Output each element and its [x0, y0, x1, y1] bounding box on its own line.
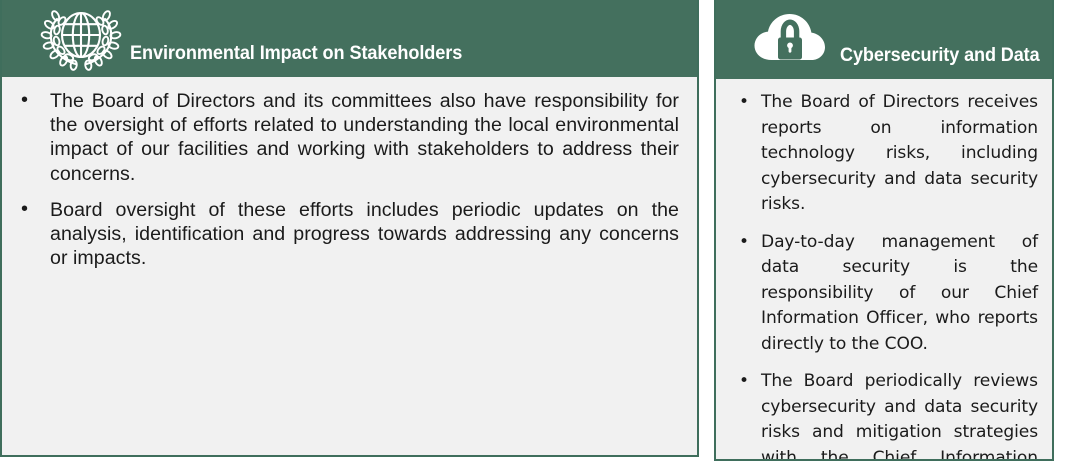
panel-header-environmental-impact: Environmental Impact on Stakeholders [0, 0, 699, 77]
cloud-lock-icon [752, 6, 828, 68]
panel-header-cybersecurity-and-data: Cybersecurity and Data [714, 0, 1054, 79]
panel-body-cybersecurity-and-data: The Board of Directors receives reports … [716, 79, 1052, 459]
bullet-list-environmental-impact: The Board of Directors and its committee… [4, 89, 679, 270]
bullet-text: The Board periodically reviews cybersecu… [761, 371, 1038, 459]
list-item: The Board of Directors and its committee… [4, 89, 679, 186]
list-item: Board oversight of these efforts include… [4, 198, 679, 271]
panel-environmental-impact: Environmental Impact on Stakeholders The… [0, 0, 699, 457]
bullet-text: Day-to-day management of data security i… [761, 232, 1038, 354]
list-item: The Board of Directors receives reports … [719, 90, 1038, 218]
two-panel-board: Environmental Impact on Stakeholders The… [0, 0, 1068, 461]
bullet-text: Board oversight of these efforts include… [50, 199, 679, 269]
panel-title-environmental-impact: Environmental Impact on Stakeholders [130, 42, 462, 65]
globe-laurel-wreath-icon [38, 0, 124, 71]
list-item: The Board periodically reviews cybersecu… [719, 369, 1038, 459]
bullet-text: The Board of Directors receives reports … [761, 92, 1038, 214]
list-item: Day-to-day management of data security i… [719, 230, 1038, 358]
panel-title-cybersecurity-and-data: Cybersecurity and Data [840, 45, 1040, 67]
panel-cybersecurity-and-data: Cybersecurity and Data The Board of Dire… [714, 0, 1054, 461]
bullet-text: The Board of Directors and its committee… [50, 90, 679, 185]
panel-body-environmental-impact: The Board of Directors and its committee… [2, 77, 697, 455]
bullet-list-cybersecurity-and-data: The Board of Directors receives reports … [719, 90, 1038, 459]
